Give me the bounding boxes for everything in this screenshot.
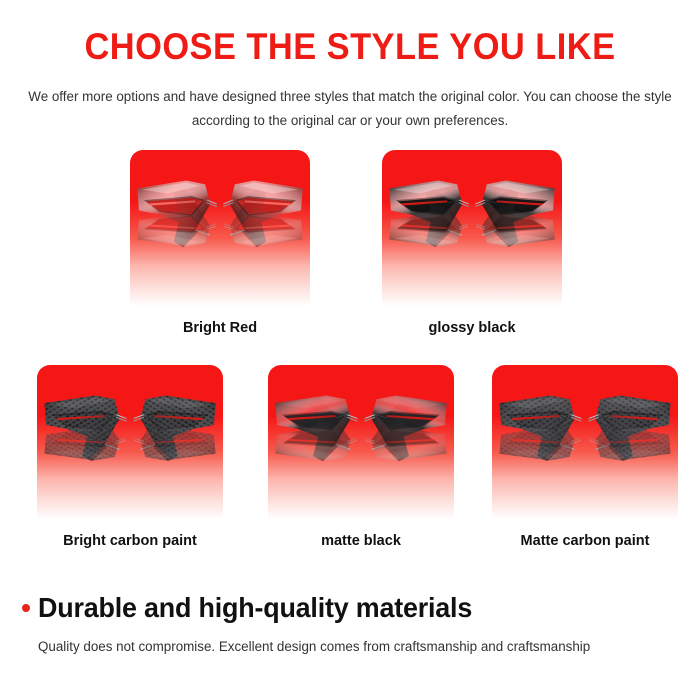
part-left [492,365,585,533]
style-card-bright-red[interactable]: Bright Red [130,150,310,340]
style-card-bright-carbon-paint[interactable]: Bright carbon paint [37,365,223,555]
part-pair-image [382,150,562,320]
part-reflection [365,399,451,466]
part-right [220,150,310,320]
part-pair-image [37,365,223,533]
part-reflection [224,184,307,252]
part-pair-image [130,150,310,320]
style-card-matte-black[interactable]: matte black [268,365,454,555]
part-reflection [386,184,469,252]
feature-title: Durable and high-quality materials [38,592,472,624]
style-swatch [130,150,310,320]
part-reflection [496,399,582,466]
part-right [585,365,678,533]
style-label: matte black [268,533,454,549]
style-swatch [37,365,223,533]
part-reflection [476,184,559,252]
style-card-glossy-black[interactable]: glossy black [382,150,562,340]
style-label: Bright Red [130,320,310,336]
style-swatch [268,365,454,533]
part-pair-image [268,365,454,533]
product-detail-page: CHOOSE THE STYLE YOU LIKE We offer more … [0,0,700,700]
feature-body: Quality does not compromise. Excellent d… [38,634,658,660]
part-reflection [41,399,127,466]
part-left [37,365,130,533]
style-label: Matte carbon paint [492,533,678,549]
part-left [130,150,220,320]
part-reflection [589,399,675,466]
part-left [268,365,361,533]
style-swatch [382,150,562,320]
part-reflection [272,399,358,466]
page-title: CHOOSE THE STYLE YOU LIKE [25,26,676,68]
part-right [472,150,562,320]
part-right [361,365,454,533]
style-card-matte-carbon-paint[interactable]: Matte carbon paint [492,365,678,555]
part-pair-image [492,365,678,533]
style-swatch [492,365,678,533]
page-subtitle: We offer more options and have designed … [26,85,674,133]
part-reflection [134,184,217,252]
style-label: glossy black [382,320,562,336]
part-right [130,365,223,533]
style-label: Bright carbon paint [37,533,223,549]
part-left [382,150,472,320]
feature-bullet-icon [22,604,30,612]
part-reflection [134,399,220,466]
